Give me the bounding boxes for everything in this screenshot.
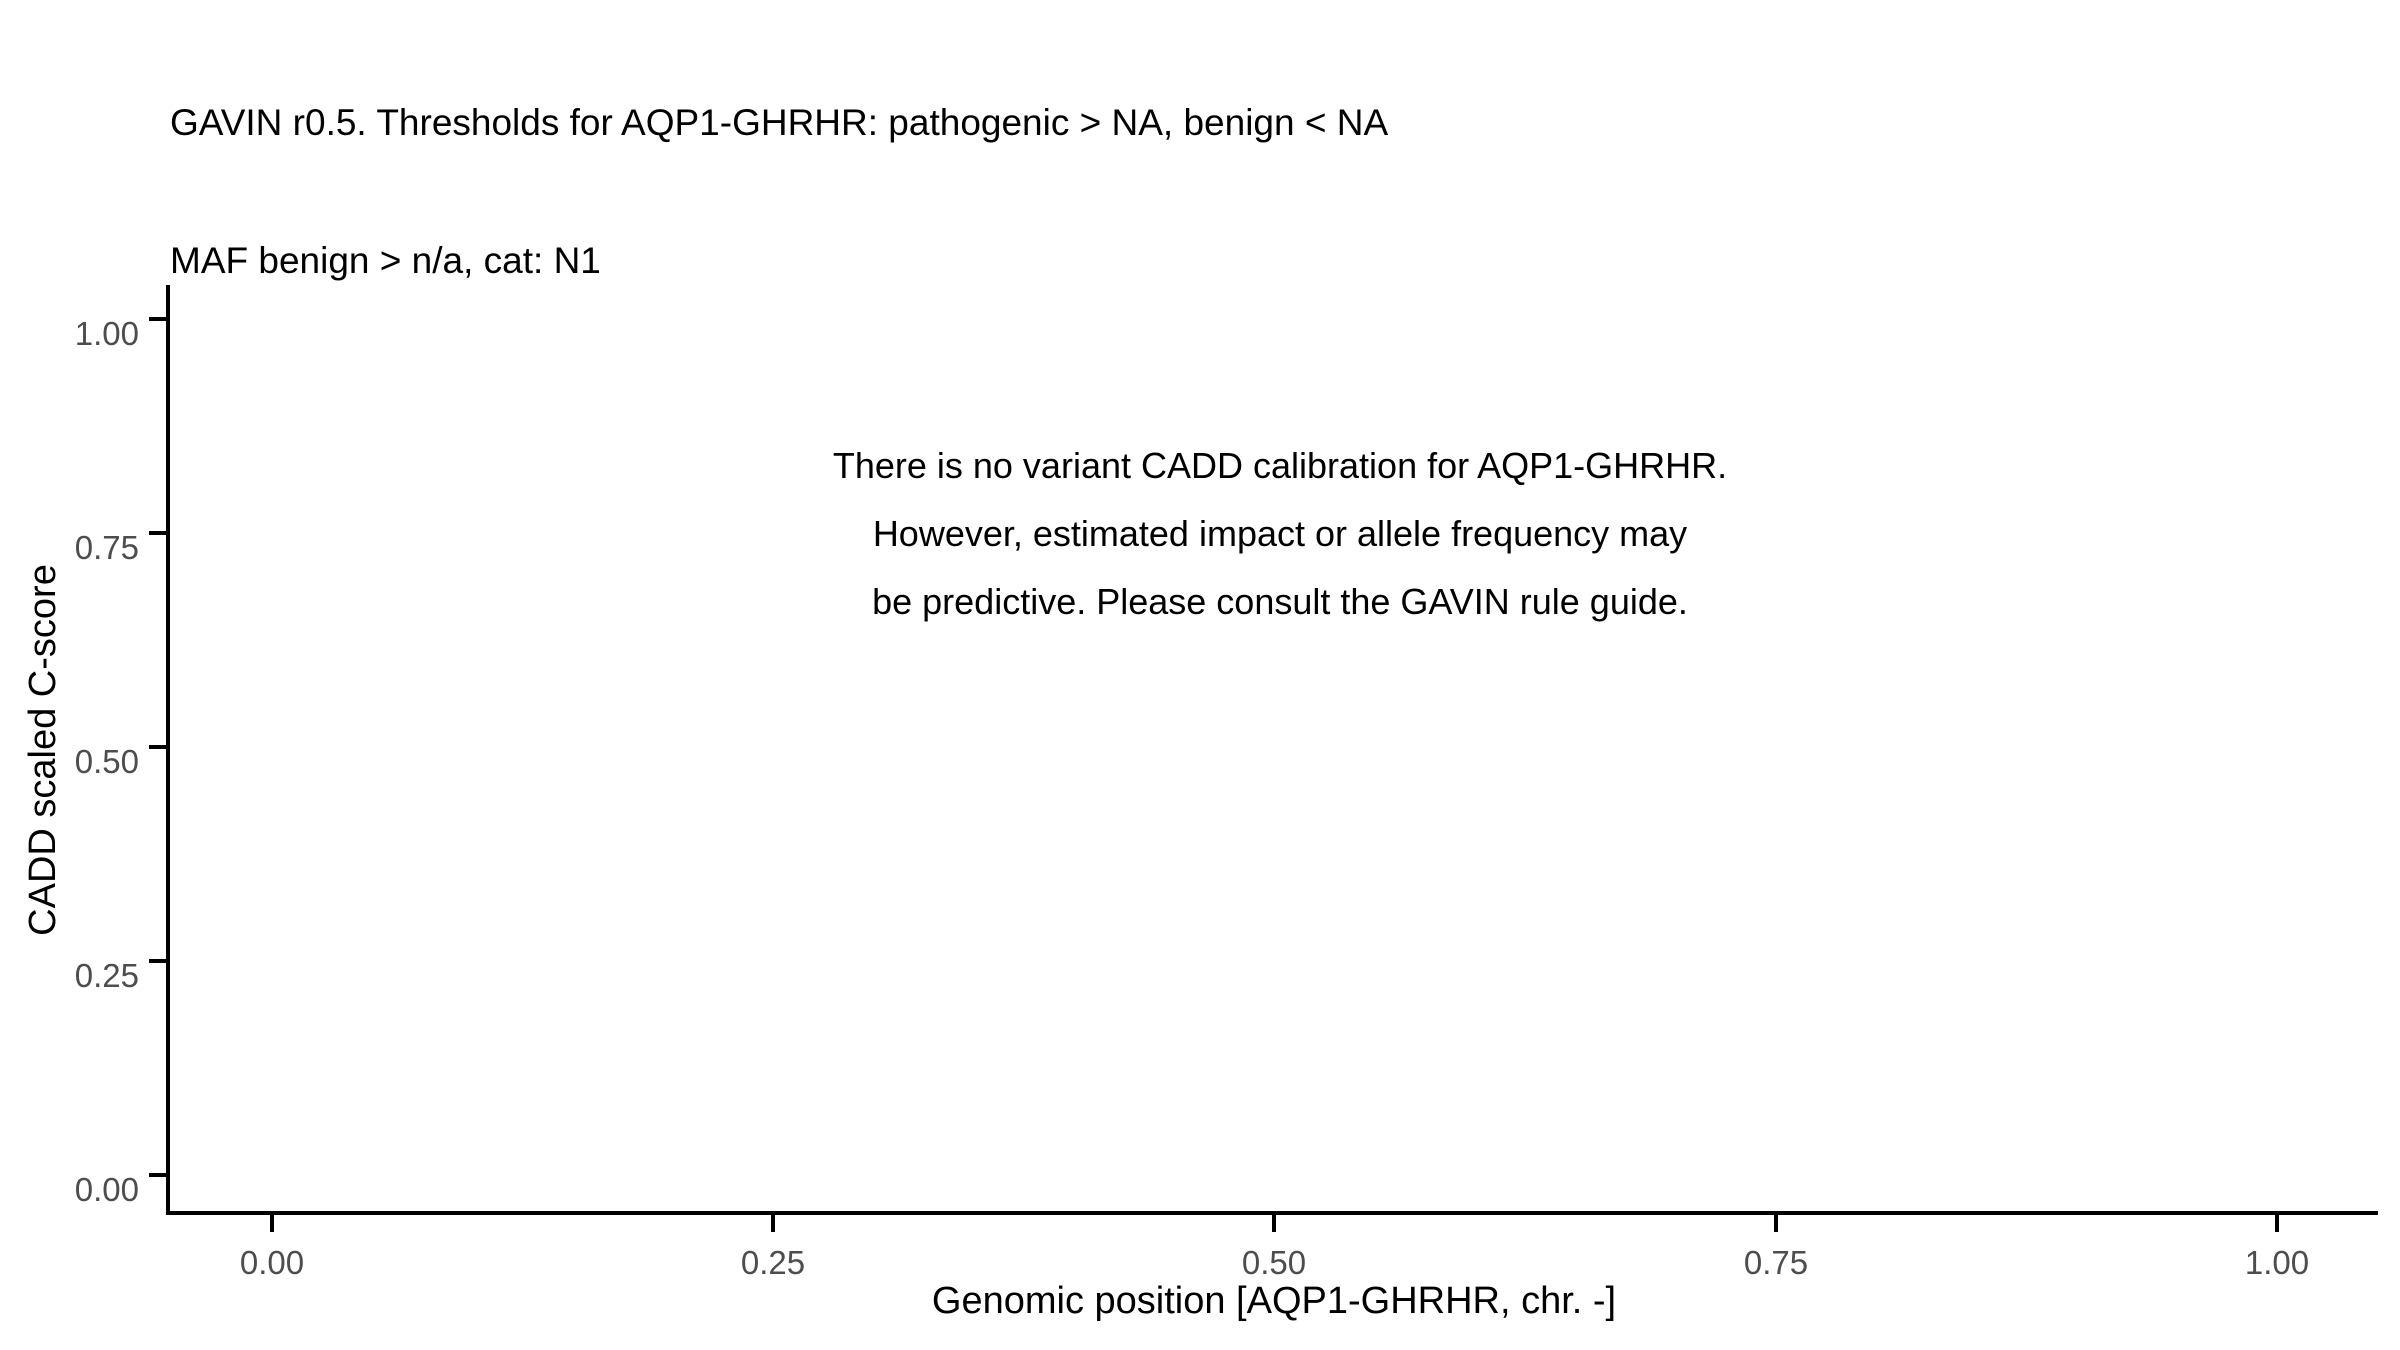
annotation-line-2: However, estimated impact or allele freq… bbox=[380, 500, 2180, 568]
x-tick-mark-1.00 bbox=[2275, 1215, 2279, 1232]
chart-title-line-1: GAVIN r0.5. Thresholds for AQP1-GHRHR: p… bbox=[170, 100, 2350, 146]
y-tick-label-1.00: 1.00 bbox=[0, 317, 139, 350]
annotation-line-3: be predictive. Please consult the GAVIN … bbox=[380, 568, 2180, 636]
y-tick-mark-1.00 bbox=[149, 317, 166, 321]
x-tick-label-0.25: 0.25 bbox=[673, 1246, 873, 1279]
no-calibration-annotation: There is no variant CADD calibration for… bbox=[380, 432, 2180, 636]
y-tick-label-0.50: 0.50 bbox=[0, 745, 139, 778]
chart-title-line-2: MAF benign > n/a, cat: N1 bbox=[170, 238, 2350, 284]
x-axis-title: Genomic position [AQP1-GHRHR, chr. -] bbox=[170, 1280, 2378, 1322]
y-tick-mark-0.00 bbox=[149, 1173, 166, 1177]
y-tick-label-0.75: 0.75 bbox=[0, 531, 139, 564]
y-tick-label-0.00: 0.00 bbox=[0, 1173, 139, 1206]
y-tick-mark-0.75 bbox=[149, 531, 166, 535]
x-tick-mark-0.50 bbox=[1272, 1215, 1276, 1232]
y-axis-line bbox=[166, 285, 170, 1215]
x-tick-label-1.00: 1.00 bbox=[2177, 1246, 2377, 1279]
x-tick-mark-0.25 bbox=[771, 1215, 775, 1232]
y-axis-title: CADD scaled C-score bbox=[22, 285, 64, 1215]
y-tick-label-0.25: 0.25 bbox=[0, 959, 139, 992]
y-tick-mark-0.25 bbox=[149, 959, 166, 963]
x-tick-label-0.00: 0.00 bbox=[172, 1246, 372, 1279]
x-tick-label-0.75: 0.75 bbox=[1676, 1246, 1876, 1279]
chart-canvas: GAVIN r0.5. Thresholds for AQP1-GHRHR: p… bbox=[0, 0, 2400, 1350]
x-tick-label-0.50: 0.50 bbox=[1174, 1246, 1374, 1279]
x-tick-mark-0.00 bbox=[270, 1215, 274, 1232]
x-tick-mark-0.75 bbox=[1774, 1215, 1778, 1232]
plot-panel bbox=[170, 285, 2378, 1213]
annotation-line-1: There is no variant CADD calibration for… bbox=[380, 432, 2180, 500]
y-tick-mark-0.50 bbox=[149, 745, 166, 749]
